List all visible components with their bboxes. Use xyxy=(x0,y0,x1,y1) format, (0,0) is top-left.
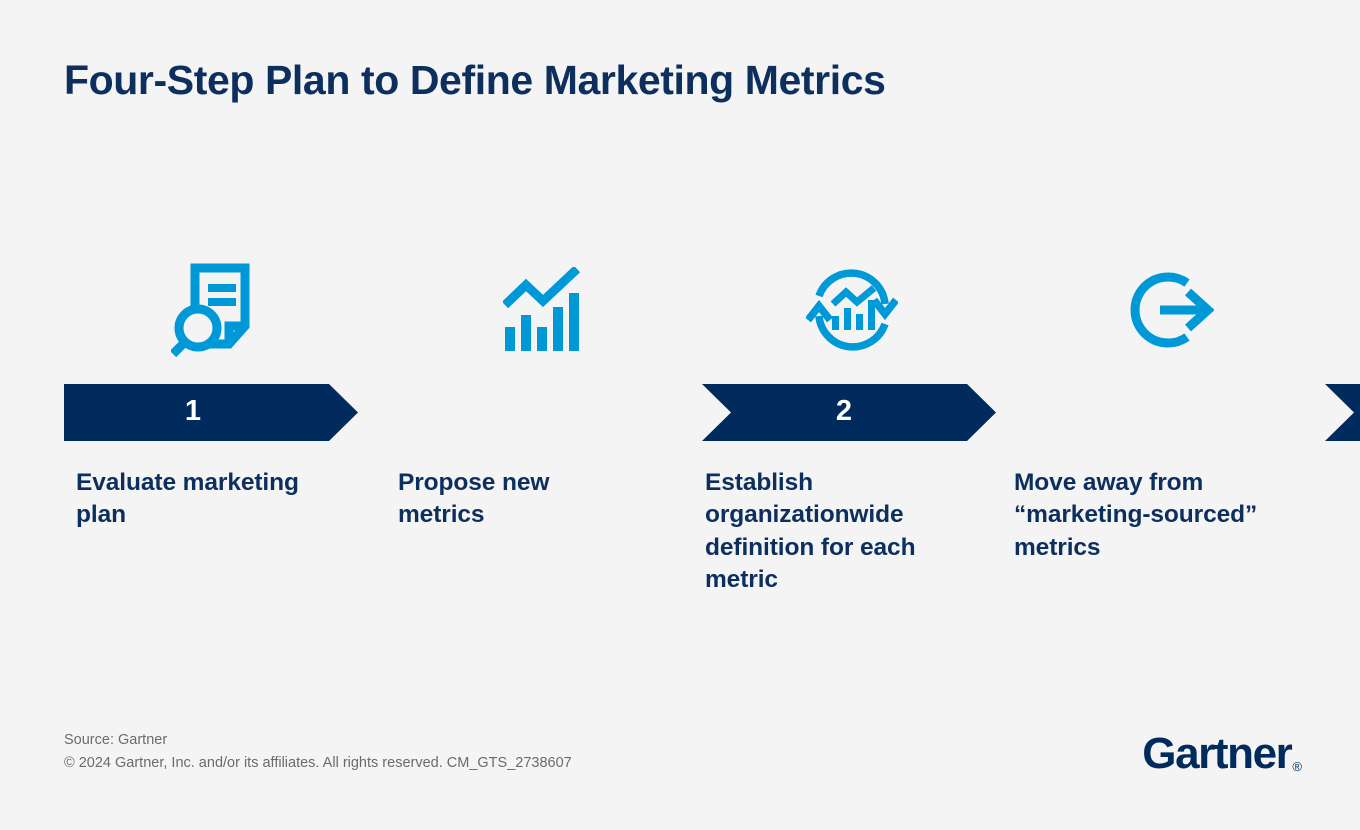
step-1: 1 Evaluate marketing plan xyxy=(64,255,372,635)
step-number: 1 xyxy=(185,397,201,426)
gartner-logo-text: Gartner xyxy=(1142,732,1291,776)
infographic-canvas: Four-Step Plan to Define Marketing Metri… xyxy=(0,0,1360,830)
footer-copyright: © 2024 Gartner, Inc. and/or its affiliat… xyxy=(64,752,572,774)
step-caption: Evaluate marketing plan xyxy=(76,467,348,532)
step-3: 3 Establish organizationwide definition … xyxy=(697,255,1005,635)
step-caption: Move away from “marketing-sourced” metri… xyxy=(1014,467,1304,564)
step-caption: Propose new metrics xyxy=(398,467,608,532)
step-4: 4 Move away from “marketing-sourced” met… xyxy=(1006,255,1314,635)
registered-trademark-icon: ® xyxy=(1292,760,1302,773)
footer-source: Source: Gartner xyxy=(64,729,572,751)
footer: Source: Gartner © 2024 Gartner, Inc. and… xyxy=(64,729,572,774)
exit-arrow-icon xyxy=(1114,255,1224,365)
document-magnifier-icon xyxy=(162,255,272,365)
bar-chart-growth-icon xyxy=(488,255,598,365)
step-2: 2 Propose new metrics xyxy=(388,255,696,635)
steps-container: 1 Evaluate marketing plan 2 xyxy=(64,255,1296,635)
step-caption: Establish organizationwide definition fo… xyxy=(705,467,957,596)
cycle-bar-chart-icon xyxy=(797,255,907,365)
chevron-step-3: 3 xyxy=(1325,384,1360,441)
page-title: Four-Step Plan to Define Marketing Metri… xyxy=(64,58,1264,103)
gartner-logo: Gartner ® xyxy=(1142,732,1302,776)
chevron-step-1: 1 xyxy=(64,384,358,441)
